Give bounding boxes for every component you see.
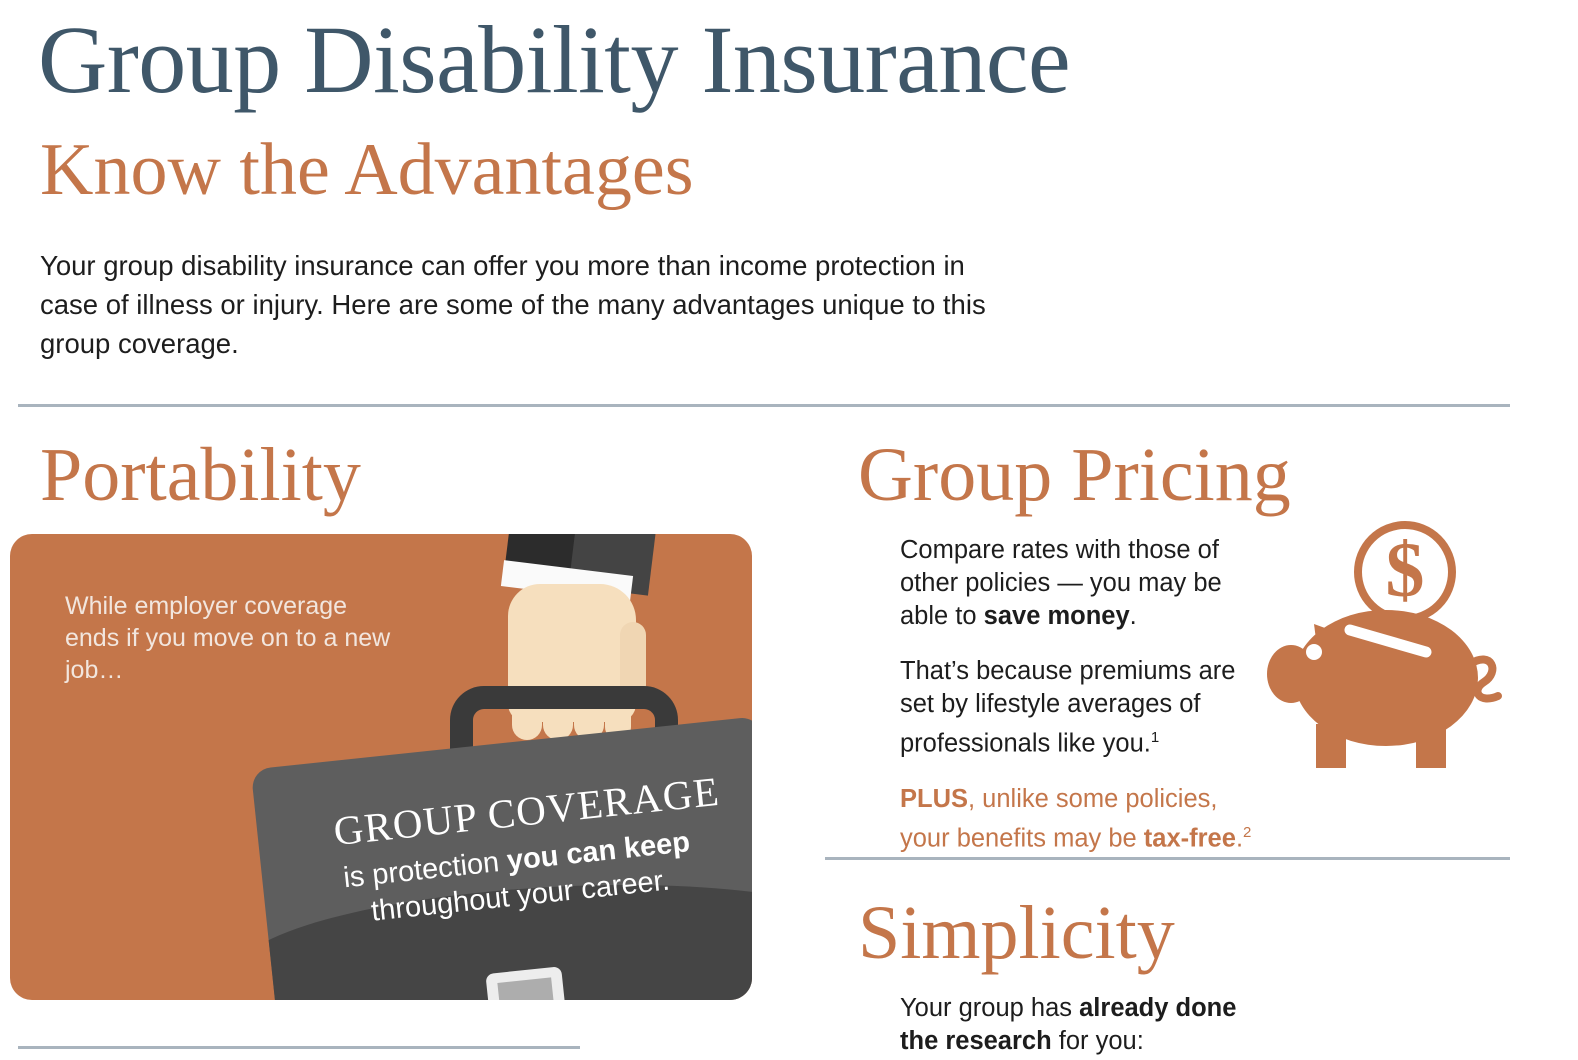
section-heading-group-pricing: Group Pricing [858, 437, 1291, 513]
footnote-marker-1: 1 [1151, 729, 1159, 746]
gp-p2: That’s because premiums are set by lifes… [900, 657, 1235, 758]
gp-plus-label: PLUS [900, 785, 968, 813]
gp-plus-b: . [1236, 824, 1243, 852]
gp-p1-bold: save money [984, 602, 1130, 630]
simp-b: for you: [1052, 1027, 1144, 1055]
group-pricing-paragraph-1: Compare rates with those of other polici… [900, 534, 1252, 633]
group-pricing-plus-note: PLUS, unlike some policies, your benefit… [900, 783, 1252, 856]
intro-paragraph: Your group disability insurance can offe… [40, 246, 990, 363]
portability-card-text: While employer coverage ends if you move… [65, 590, 395, 686]
simplicity-text: Your group has already done the research… [900, 992, 1270, 1058]
divider-right-column [825, 857, 1510, 860]
divider-top [18, 404, 1510, 407]
gp-p1-b: . [1130, 602, 1137, 630]
group-pricing-paragraph-2: That’s because premiums are set by lifes… [900, 655, 1252, 761]
gp-plus-bold2: tax-free [1144, 824, 1236, 852]
briefcase-body-icon: GROUP COVERAGE is protection you can kee… [251, 716, 752, 1000]
page-title: Group Disability Insurance [38, 8, 1070, 112]
portability-card: While employer coverage ends if you move… [10, 534, 752, 1000]
piggy-bank-icon: $ [1258, 512, 1508, 772]
section-heading-simplicity: Simplicity [858, 895, 1175, 971]
briefcase-latch-inner [497, 977, 554, 1000]
dollar-sign-icon: $ [1386, 526, 1425, 613]
simp-a: Your group has [900, 994, 1079, 1022]
section-heading-portability: Portability [40, 437, 361, 513]
footnote-marker-2: 2 [1243, 824, 1251, 841]
divider-bottom-left [18, 1046, 580, 1049]
page-subtitle: Know the Advantages [40, 131, 694, 211]
group-pricing-text: Compare rates with those of other polici… [900, 534, 1252, 877]
